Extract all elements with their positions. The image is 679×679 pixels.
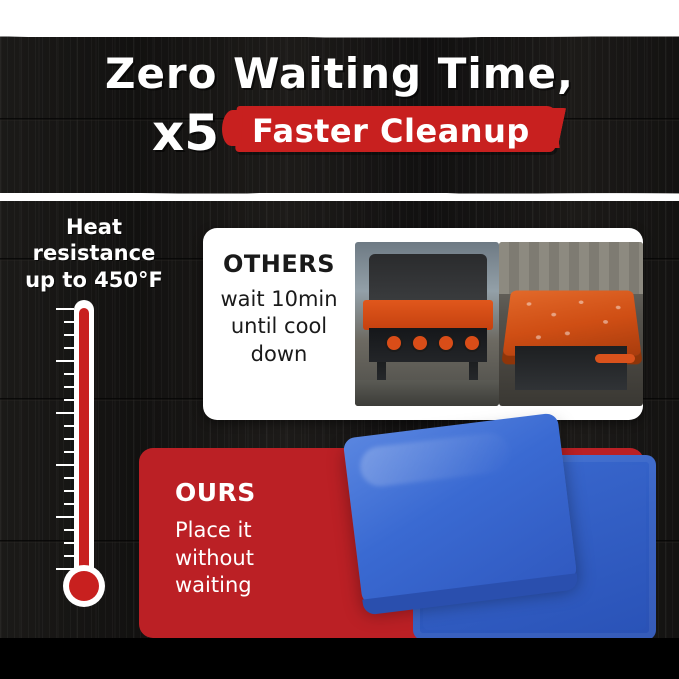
headline-divider <box>0 196 679 201</box>
ours-title: OURS <box>175 478 315 507</box>
thermometer-mercury <box>79 308 89 598</box>
griddle-with-hood-photo <box>355 242 499 406</box>
others-description: wait 10min until cool down <box>203 286 355 368</box>
top-white-band <box>0 0 679 34</box>
thermometer-icon <box>46 300 106 645</box>
bottom-black-bar <box>0 638 679 679</box>
others-title: OTHERS <box>203 250 355 278</box>
thermometer-bulb-fill <box>69 571 99 601</box>
ours-desc-line-1: Place it <box>175 517 315 545</box>
ours-desc-line-2: without <box>175 545 315 573</box>
thermometer-scale <box>48 308 74 580</box>
headline-line-2-row: x5 Faster Cleanup <box>0 102 679 156</box>
ours-description: Place it without waiting <box>175 517 315 600</box>
heat-resistance-label: Heat resistance up to 450°F <box>8 214 180 293</box>
others-text-block: OTHERS wait 10min until cool down <box>203 250 355 368</box>
heat-label-line-1: Heat <box>8 214 180 240</box>
blue-silicone-mat-front <box>343 412 578 605</box>
heat-label-line-2: resistance <box>8 240 180 266</box>
ours-desc-line-3: waiting <box>175 572 315 600</box>
heat-label-line-3: up to 450°F <box>8 267 180 293</box>
infographic-canvas: Zero Waiting Time, x5 Faster Cleanup Hea… <box>0 0 679 679</box>
others-card: OTHERS wait 10min until cool down <box>203 228 643 420</box>
others-desc-line-3: down <box>203 341 355 368</box>
headline-line-2: Faster Cleanup <box>252 112 530 150</box>
headline-block: Zero Waiting Time, x5 Faster Cleanup <box>0 52 679 156</box>
multiplier-text: x5 <box>152 104 219 162</box>
others-desc-line-1: wait 10min <box>203 286 355 313</box>
headline-line-1: Zero Waiting Time, <box>0 52 679 96</box>
griddle-top-wet-photo <box>499 242 643 406</box>
ours-text-block: OURS Place it without waiting <box>175 478 315 600</box>
others-desc-line-2: until cool <box>203 313 355 340</box>
